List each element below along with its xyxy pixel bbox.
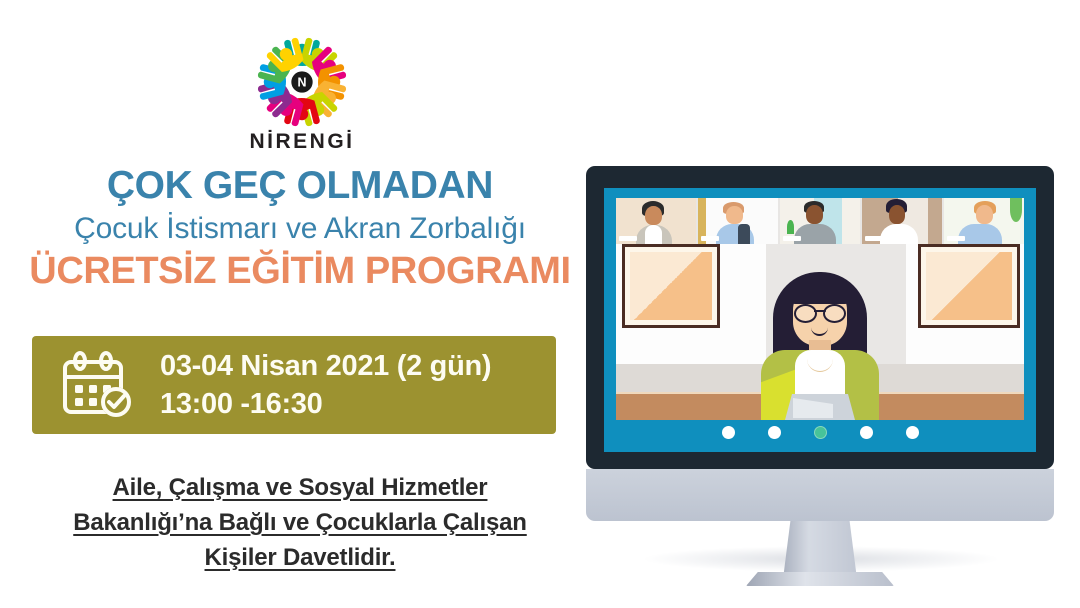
- nirengi-wordmark: NİRENGİ: [222, 130, 382, 154]
- pagination-dot-active[interactable]: [814, 426, 827, 439]
- speaker-video-tile[interactable]: [616, 244, 1024, 420]
- pagination-dot[interactable]: [722, 426, 735, 439]
- monitor-stand-base: [746, 572, 894, 586]
- participant-thumbnail[interactable]: [698, 198, 778, 246]
- participant-name-tag: [619, 236, 637, 241]
- participant-name-tag: [865, 236, 883, 241]
- participant-thumbnail-strip: [616, 198, 1024, 244]
- main-speaker-avatar: [755, 270, 885, 420]
- participant-thumbnail[interactable]: [944, 198, 1024, 246]
- audience-note-line-2: Bakanlığı’na Bağlı ve Çocuklarla Çalışan: [73, 505, 527, 540]
- headline-line-2: Çocuk İstismarı ve Akran Zorbalığı: [0, 209, 600, 249]
- video-call-viewport: [616, 198, 1024, 420]
- wall-picture-frame: [622, 244, 720, 328]
- calendar-check-icon: [60, 350, 138, 420]
- poster-canvas: N NİRENGİ ÇOK GEÇ OLMADAN Çocuk İstismar…: [0, 0, 1080, 608]
- participant-thumbnail[interactable]: [616, 198, 696, 246]
- speaker-glasses-icon: [793, 304, 847, 319]
- participant-thumbnail[interactable]: [780, 198, 860, 246]
- logo-center-letter: N: [298, 75, 307, 89]
- date-time-banner: 03-04 Nisan 2021 (2 gün) 13:00 -16:30: [32, 336, 556, 434]
- pagination-dot[interactable]: [860, 426, 873, 439]
- nirengi-logo: N NİRENGİ: [222, 34, 382, 162]
- audience-note: Aile, Çalışma ve Sosyal Hizmetler Bakanl…: [0, 470, 600, 575]
- headline-block: ÇOK GEÇ OLMADAN Çocuk İstismarı ve Akran…: [0, 163, 600, 293]
- pagination-dot[interactable]: [768, 426, 781, 439]
- left-content-column: N NİRENGİ ÇOK GEÇ OLMADAN Çocuk İstismar…: [0, 0, 600, 608]
- desktop-monitor-illustration: [586, 166, 1056, 596]
- date-time-text: 03-04 Nisan 2021 (2 gün) 13:00 -16:30: [160, 347, 491, 423]
- pagination-dots[interactable]: [616, 424, 1024, 440]
- participant-thumbnail[interactable]: [862, 198, 942, 246]
- participant-name-tag: [701, 236, 719, 241]
- headline-line-3: ÜCRETSİZ EĞİTİM PROGRAMI: [0, 249, 600, 293]
- date-line: 03-04 Nisan 2021 (2 gün): [160, 347, 491, 385]
- monitor-screen: [604, 188, 1036, 452]
- headline-line-1: ÇOK GEÇ OLMADAN: [0, 163, 600, 209]
- participant-name-tag: [947, 236, 965, 241]
- pagination-dot[interactable]: [906, 426, 919, 439]
- nirengi-people-circle-logo-icon: N: [248, 34, 356, 130]
- time-line: 13:00 -16:30: [160, 385, 491, 423]
- wall-picture-frame: [918, 244, 1020, 328]
- monitor-chin: [586, 469, 1054, 521]
- speaker-hair-top: [788, 274, 852, 304]
- monitor-stand-neck: [783, 521, 857, 579]
- audience-note-line-3: Kişiler Davetlidir.: [205, 540, 396, 575]
- audience-note-line-1: Aile, Çalışma ve Sosyal Hizmetler: [113, 470, 488, 505]
- participant-name-tag: [783, 236, 801, 241]
